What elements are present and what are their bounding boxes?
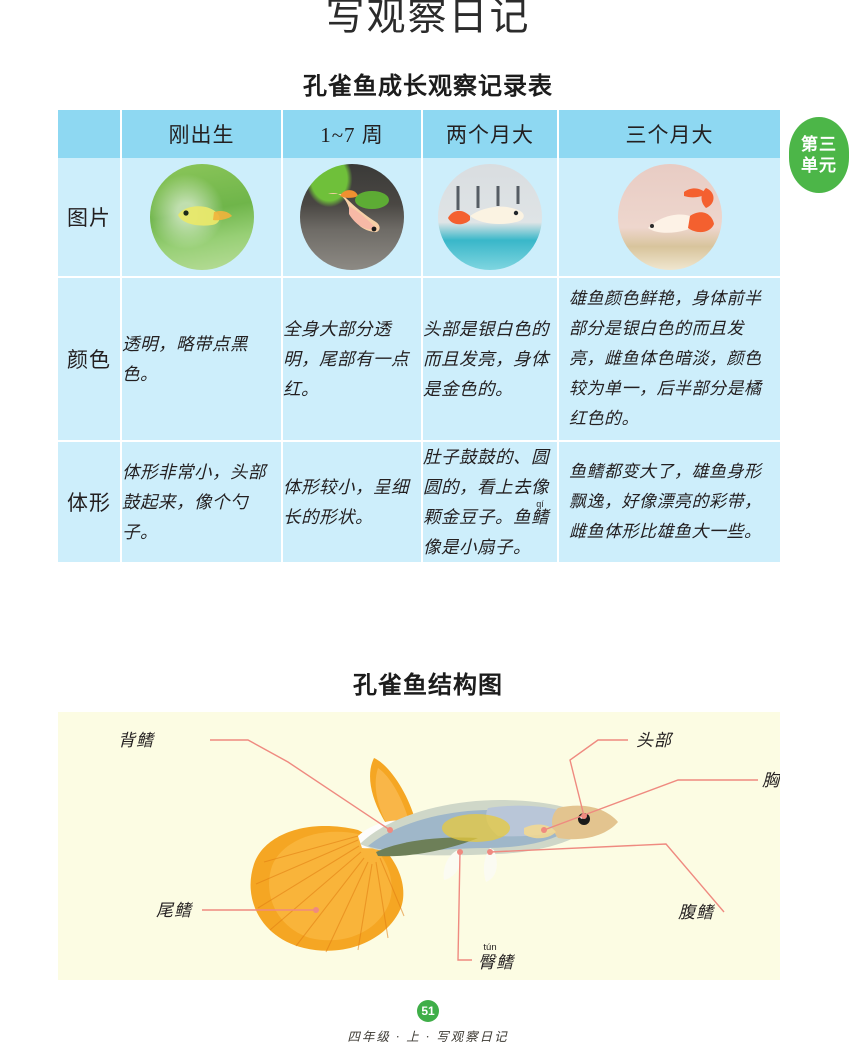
fish-fry-photo [150,164,254,270]
photo-cell-newborn [122,158,283,278]
fish-two-month-photo [438,164,542,270]
column-header-1to7weeks: 1~7 周 [283,110,423,158]
three-month-fish-shape [626,184,718,246]
row-label-photos: 图片 [58,158,122,278]
label-anal-fin: 臀鳍 [478,953,516,972]
pelvic-fin-anchor [487,849,493,855]
dorsal-fin-anchor [387,827,393,833]
photo-cell-three-months [559,158,780,278]
unit-badge: 第三 单元 [789,117,849,193]
fish-juvenile-photo [300,164,404,270]
ruby-annotation-qi: qí鳍 [531,502,549,532]
label-head: 头部 [636,731,674,750]
column-header-two-months: 两个月大 [423,110,559,158]
table-header-row: 刚出生 1~7 周 两个月大 三个月大 [58,110,780,158]
growth-observation-table: 刚出生 1~7 周 两个月大 三个月大 图片 [58,110,780,562]
anal-fin-anchor [457,849,463,855]
body-yellow-patch [442,814,510,842]
table-row-body-shape: 体形 体形非常小，头部鼓起来，像个勺子。 体形较小，呈细长的形状。 肚子鼓鼓的、… [58,442,780,562]
fish-structure-diagram: 背鳍 头部 胸鳍 腹鳍 tún 臀鳍 尾鳍 [58,712,780,980]
unit-badge-line1: 第三 [801,134,837,155]
page-number: 51 [417,1000,439,1022]
label-pectoral-fin: 胸鳍 [762,771,780,790]
diagram-section-title: 孔雀鱼结构图 [0,665,856,700]
anal-fin-leader [458,852,472,960]
column-header-newborn: 刚出生 [122,110,283,158]
fry-fish-shape [172,200,234,230]
unit-badge-line2: 单元 [801,155,837,176]
table-corner-cell [58,110,122,158]
head-leader [570,740,628,816]
table-row-color: 颜色 透明，略带点黑色。 全身大部分透明，尾部有一点红。 头部是银白色的而且发亮… [58,278,780,442]
juvenile-fish-shape [316,188,390,240]
table-row-photos: 图片 [58,158,780,278]
color-cell-newborn: 透明，略带点黑色。 [122,278,283,442]
row-label-color: 颜色 [58,278,122,442]
page-title: 写观察日记 [0,0,856,42]
dorsal-fin-leader [210,740,390,830]
color-cell-three-months: 雄鱼颜色鲜艳，身体前半部分是银白色的而且发亮，雌鱼体色暗淡，颜色较为单一，后半部… [559,278,780,442]
fish-three-month-photo [618,164,722,270]
color-cell-1to7weeks: 全身大部分透明，尾部有一点红。 [283,278,423,442]
pectoral-fin-anchor [541,827,547,833]
table-section-title: 孔雀鱼成长观察记录表 [0,66,856,101]
shape-cell-three-months: 鱼鳍都变大了，雄鱼身形飘逸，好像漂亮的彩带，雌鱼体形比雄鱼大一些。 [559,442,780,562]
label-anal-fin-pinyin: tún [483,942,496,953]
caudal-fin-anchor [313,907,319,913]
shape-cell-1to7weeks: 体形较小，呈细长的形状。 [283,442,423,562]
shape-cell-newborn: 体形非常小，头部鼓起来，像个勺子。 [122,442,283,562]
color-cell-two-months: 头部是银白色的而且发亮，身体是金色的。 [423,278,559,442]
label-dorsal-fin: 背鳍 [118,731,156,750]
photo-cell-two-months [423,158,559,278]
ruby-pinyin: qí [536,489,544,519]
label-caudal-fin: 尾鳍 [156,901,194,920]
shape-cell-two-months-text: 肚子鼓鼓的、圆圆的，看上去像颗金豆子。鱼qí鳍像是小扇子。 [423,447,549,557]
column-header-three-months: 三个月大 [559,110,780,158]
shape-cell-two-months: 肚子鼓鼓的、圆圆的，看上去像颗金豆子。鱼qí鳍像是小扇子。 [423,442,559,562]
guppy-illustration [251,758,618,952]
photo-cell-1to7weeks [283,158,423,278]
pelvic-fin-leader [490,844,724,912]
footer-text: 四年级 · 上 · 写观察日记 [0,1026,856,1045]
two-month-fish-shape [444,186,536,242]
row-label-body-shape: 体形 [58,442,122,562]
label-pelvic-fin: 腹鳍 [678,903,716,922]
fish-structure-diagram-panel: 背鳍 头部 胸鳍 腹鳍 tún 臀鳍 尾鳍 [58,712,780,980]
